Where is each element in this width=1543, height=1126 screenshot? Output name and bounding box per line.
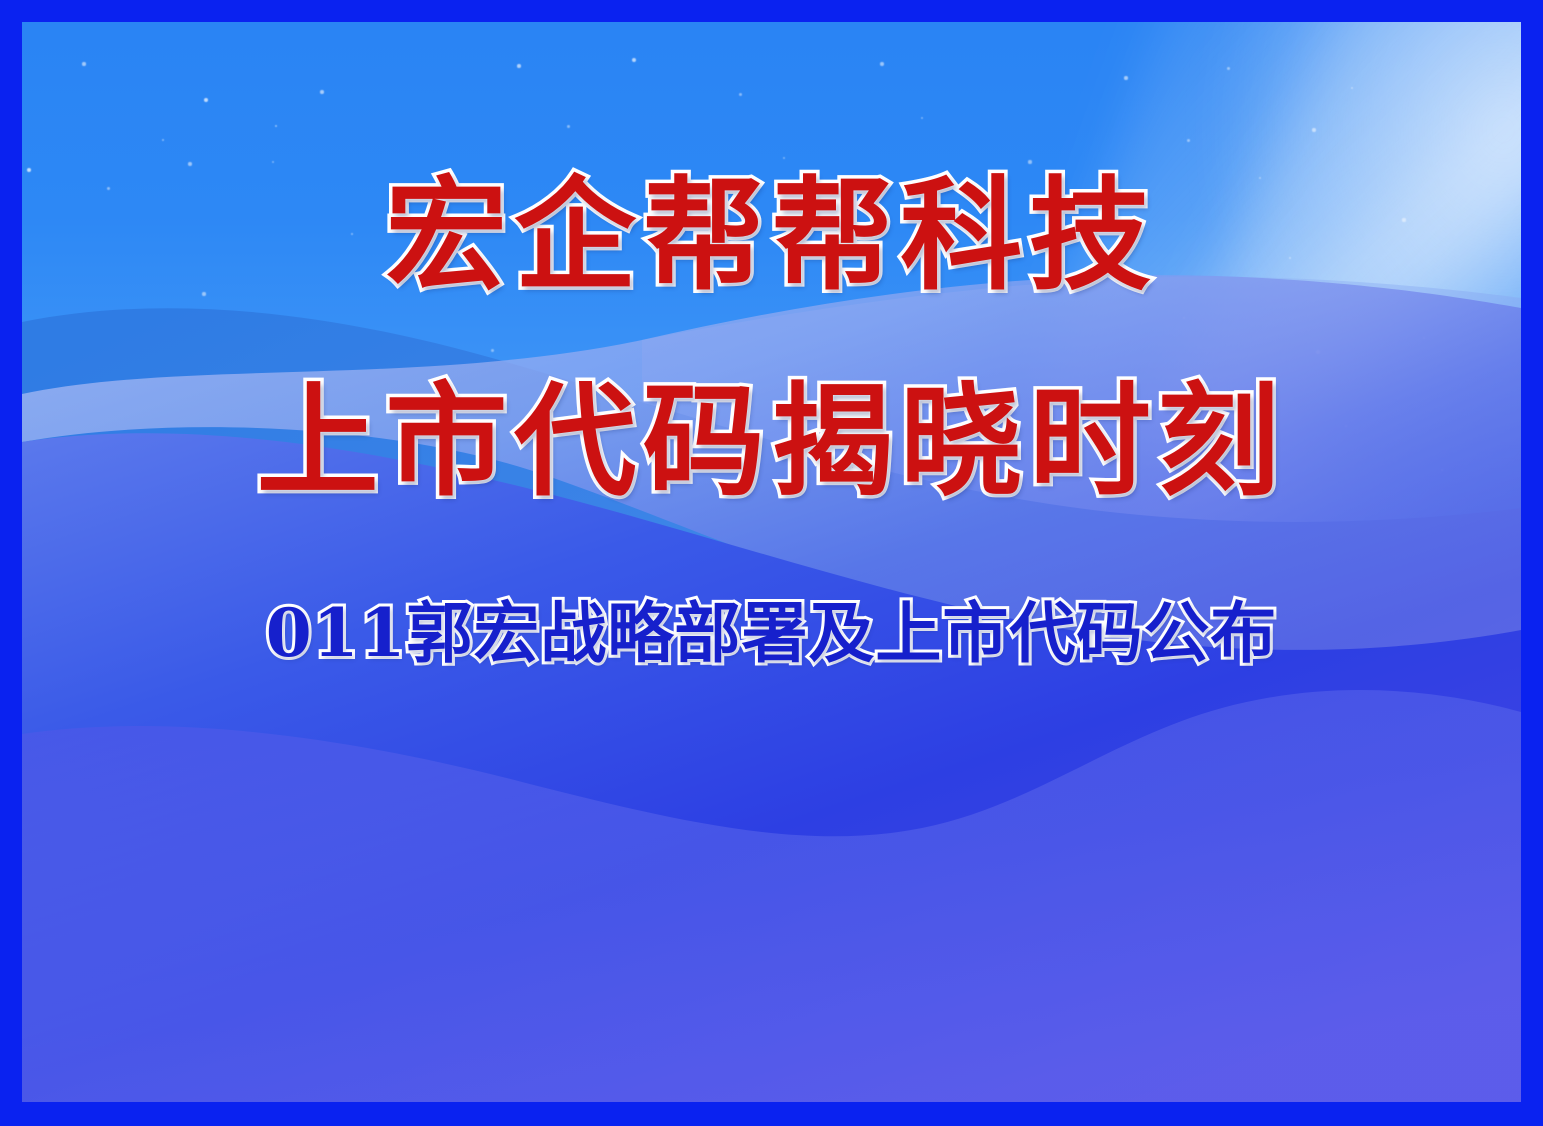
poster-text-block: 宏企帮帮科技 上市代码揭晓时刻 011郭宏战略部署及上市代码公布: [22, 22, 1521, 1102]
poster-root: 宏企帮帮科技 上市代码揭晓时刻 011郭宏战略部署及上市代码公布: [0, 0, 1543, 1126]
headline-line-2: 上市代码揭晓时刻: [22, 380, 1521, 502]
poster-canvas: 宏企帮帮科技 上市代码揭晓时刻 011郭宏战略部署及上市代码公布: [22, 22, 1521, 1102]
headline-line-1: 宏企帮帮科技: [22, 174, 1521, 296]
poster-subtitle: 011郭宏战略部署及上市代码公布: [22, 600, 1521, 666]
